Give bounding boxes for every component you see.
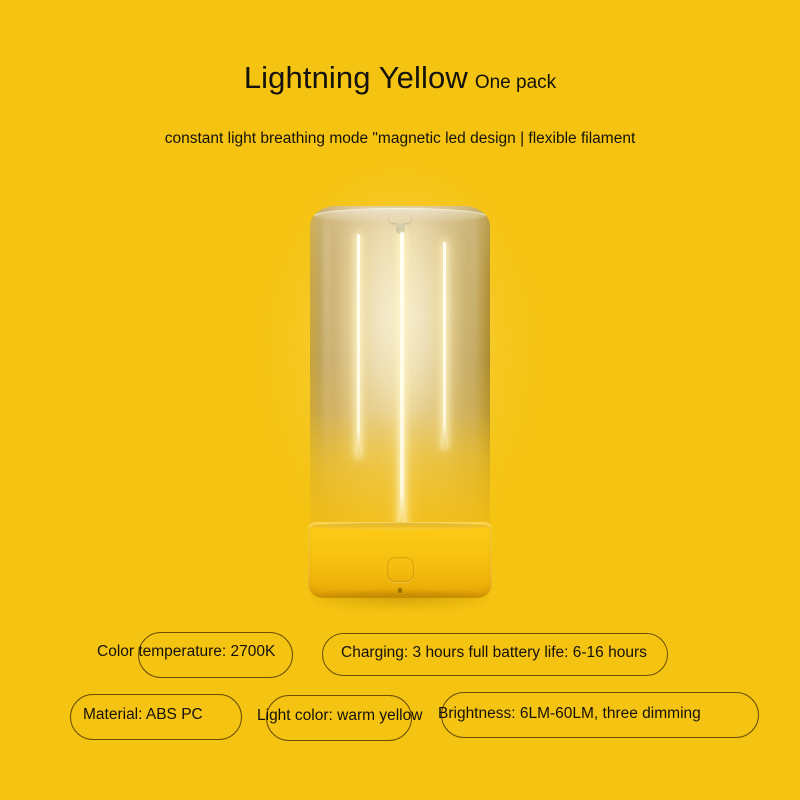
lamp-glass-shade [310,206,490,528]
header: Lightning YellowOne pack [0,62,800,93]
spec-label-color-temperature: Color temperature: 2700K [97,644,275,660]
product-subtitle: constant light breathing mode "magnetic … [0,130,800,148]
led-filament-right [443,242,446,448]
led-filament-left [357,234,360,456]
page-title: Lightning Yellow [244,60,468,95]
product-listing-image: Lightning YellowOne pack constant light … [0,0,800,800]
product-image-lamp [308,206,492,600]
spec-label-light-color: Light color: warm yellow [257,708,422,724]
product-shadow [314,593,486,609]
power-button-icon[interactable] [387,557,414,582]
glass-highlight-left [323,216,330,515]
led-filament-center [400,232,404,528]
lamp-base [308,522,492,598]
base-seam [311,523,489,530]
spec-label-charging: Charging: 3 hours full battery life: 6-1… [341,645,647,661]
spec-label-brightness: Brightness: 6LM-60LM, three dimming [438,706,701,722]
title-line: Lightning YellowOne pack [0,62,800,93]
spec-label-material: Material: ABS PC [83,707,203,723]
pack-quantity-label: One pack [475,72,556,93]
